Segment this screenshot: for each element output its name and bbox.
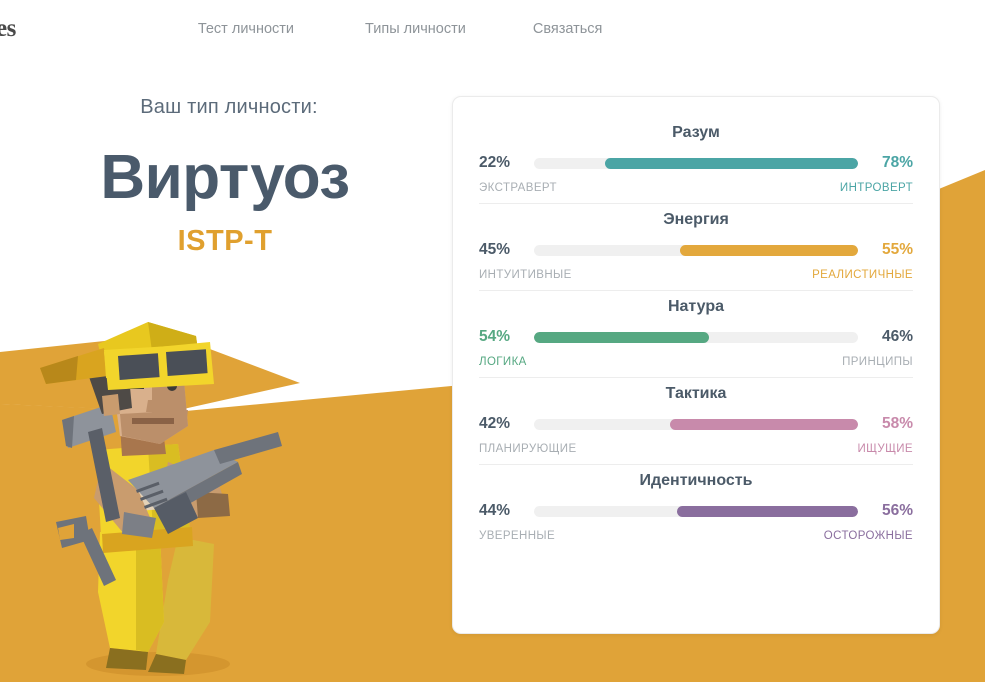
- character-mouth: [132, 418, 174, 424]
- trait-left-percent: 44%: [479, 502, 525, 520]
- trait-fill: [680, 245, 858, 256]
- character-wrench-notch: [58, 524, 74, 540]
- character-eye-left: [124, 384, 144, 389]
- character-tool-vent-3: [144, 498, 168, 509]
- character-back-boot: [148, 654, 186, 674]
- character-hard-hat-brim-left: [40, 348, 108, 384]
- orange-shape-lower: [0, 404, 175, 682]
- trait-right-percent: 46%: [867, 328, 913, 346]
- trait-title: Натура: [479, 298, 913, 316]
- character-front-boot: [106, 648, 148, 670]
- trait-row: Разум 22% 78% ЭКСТРАВЕРТ ИНТРОВЕРТ: [479, 117, 913, 204]
- trait-title: Разум: [479, 124, 913, 142]
- character-tool-vent-2: [140, 490, 164, 501]
- trait-labels: ЛОГИКА ПРИНЦИПЫ: [479, 356, 913, 368]
- trait-left-label: ЭКСТРАВЕРТ: [479, 182, 557, 194]
- trait-left-label: ПЛАНИРУЮЩИЕ: [479, 443, 577, 455]
- character-nose: [146, 400, 162, 412]
- trait-bar-row: 54% 46%: [479, 327, 913, 347]
- character-tool-vent-1: [136, 482, 160, 493]
- character-hammer-claw: [62, 416, 74, 448]
- trait-title: Идентичность: [479, 472, 913, 490]
- character-torso-shade: [148, 444, 192, 548]
- personality-result-page: es Тест личности Типы личности Связаться…: [0, 0, 985, 682]
- character-belt: [102, 527, 193, 553]
- character-power-tool-grip: [154, 492, 198, 534]
- character-left-arm: [94, 462, 152, 534]
- character-hard-hat-brim-left-fold: [40, 356, 78, 384]
- trait-title: Энергия: [479, 211, 913, 229]
- trait-title: Тактика: [479, 385, 913, 403]
- character-hammer-head: [62, 404, 116, 448]
- trait-bar-row: 44% 56%: [479, 501, 913, 521]
- character-power-tool-body-shade: [154, 462, 242, 518]
- character-hair: [88, 366, 132, 414]
- character-front-leg: [98, 532, 164, 652]
- trait-labels: ПЛАНИРУЮЩИЕ ИЩУЩИЕ: [479, 443, 913, 455]
- personality-type-name: Виртуоз: [0, 147, 450, 209]
- trait-bar-row: 45% 55%: [479, 240, 913, 260]
- character-torso: [96, 444, 192, 552]
- character-right-hand: [196, 492, 230, 518]
- trait-track: [534, 158, 858, 169]
- trait-row: Идентичность 44% 56% УВЕРЕННЫЕ ОСТОРОЖНЫ…: [479, 465, 913, 551]
- trait-fill: [670, 419, 858, 430]
- trait-right-percent: 55%: [867, 241, 913, 259]
- trait-row: Натура 54% 46% ЛОГИКА ПРИНЦИПЫ: [479, 291, 913, 378]
- character-hammer-handle: [88, 428, 120, 522]
- character-ear: [102, 394, 120, 416]
- character-hard-hat-dome-shade: [148, 322, 200, 366]
- trait-right-label: ИЩУЩИЕ: [858, 443, 913, 455]
- trait-left-percent: 22%: [479, 154, 525, 172]
- trait-left-percent: 54%: [479, 328, 525, 346]
- character-back-leg: [156, 537, 214, 660]
- trait-track: [534, 506, 858, 517]
- character-head-shade: [152, 358, 188, 444]
- trait-right-label: ИНТРОВЕРТ: [840, 182, 913, 194]
- character-jaw-shade: [120, 410, 188, 444]
- trait-fill: [677, 506, 858, 517]
- trait-labels: ИНТУИТИВНЫЕ РЕАЛИСТИЧНЫЕ: [479, 269, 913, 281]
- trait-labels: УВЕРЕННЫЕ ОСТОРОЖНЫЕ: [479, 530, 913, 542]
- trait-bar-row: 22% 78%: [479, 153, 913, 173]
- character-power-tool-body: [128, 450, 238, 508]
- character-goggles-frame: [104, 342, 214, 390]
- trait-track: [534, 245, 858, 256]
- character-wrench-handle: [80, 528, 116, 586]
- trait-right-percent: 56%: [867, 502, 913, 520]
- character-right-arm: [162, 462, 228, 518]
- character-hard-hat-brim-right: [104, 344, 206, 378]
- trait-track: [534, 332, 858, 343]
- trait-right-label: ПРИНЦИПЫ: [842, 356, 913, 368]
- character-front-leg-shade: [136, 534, 164, 652]
- trait-right-percent: 58%: [867, 415, 913, 433]
- nav-item-contact[interactable]: Связаться: [533, 21, 603, 37]
- trait-fill: [534, 332, 709, 343]
- trait-bar-row: 42% 58%: [479, 414, 913, 434]
- virtuoso-character-illustration: [28, 322, 328, 682]
- site-header: es Тест личности Типы личности Связаться: [0, 0, 985, 58]
- trait-left-percent: 42%: [479, 415, 525, 433]
- trait-right-percent: 78%: [867, 154, 913, 172]
- trait-left-label: ИНТУИТИВНЫЕ: [479, 269, 572, 281]
- trait-fill: [605, 158, 858, 169]
- hero-kicker: Ваш тип личности:: [8, 96, 450, 119]
- character-neck: [120, 422, 166, 456]
- main-navigation: Тест личности Типы личности Связаться: [198, 21, 603, 37]
- trait-row: Тактика 42% 58% ПЛАНИРУЮЩИЕ ИЩУЩИЕ: [479, 378, 913, 465]
- trait-left-label: УВЕРЕННЫЕ: [479, 530, 555, 542]
- nav-item-personality-types[interactable]: Типы личности: [365, 21, 466, 37]
- trait-right-label: ОСТОРОЖНЫЕ: [824, 530, 913, 542]
- character-left-hand: [122, 512, 156, 538]
- character-shadow: [86, 652, 230, 676]
- trait-right-label: РЕАЛИСТИЧНЫЕ: [812, 269, 913, 281]
- character-goggles-lens-right: [166, 349, 208, 376]
- trait-left-label: ЛОГИКА: [479, 356, 527, 368]
- character-brow-right: [162, 366, 188, 380]
- nav-item-personality-test[interactable]: Тест личности: [198, 21, 294, 37]
- hero-section: Ваш тип личности: Виртуоз ISTP-T: [0, 96, 450, 258]
- trait-track: [534, 419, 858, 430]
- character-eye-right: [167, 381, 177, 391]
- personality-type-code: ISTP-T: [0, 225, 450, 258]
- character-head: [110, 358, 188, 444]
- character-hard-hat-dome: [98, 322, 200, 368]
- orange-shape-left: [0, 334, 300, 412]
- character-wrench-head: [56, 516, 90, 548]
- character-shirt: [120, 486, 180, 512]
- trait-labels: ЭКСТРАВЕРТ ИНТРОВЕРТ: [479, 182, 913, 194]
- character-goggles-lens-left: [118, 353, 160, 380]
- site-logo[interactable]: es: [0, 15, 16, 43]
- trait-left-percent: 45%: [479, 241, 525, 259]
- character-power-tool-barrel: [214, 432, 282, 464]
- trait-row: Энергия 45% 55% ИНТУИТИВНЫЕ РЕАЛИСТИЧНЫЕ: [479, 204, 913, 291]
- personality-traits-card: Разум 22% 78% ЭКСТРАВЕРТ ИНТРОВЕРТ Энерг…: [452, 96, 940, 634]
